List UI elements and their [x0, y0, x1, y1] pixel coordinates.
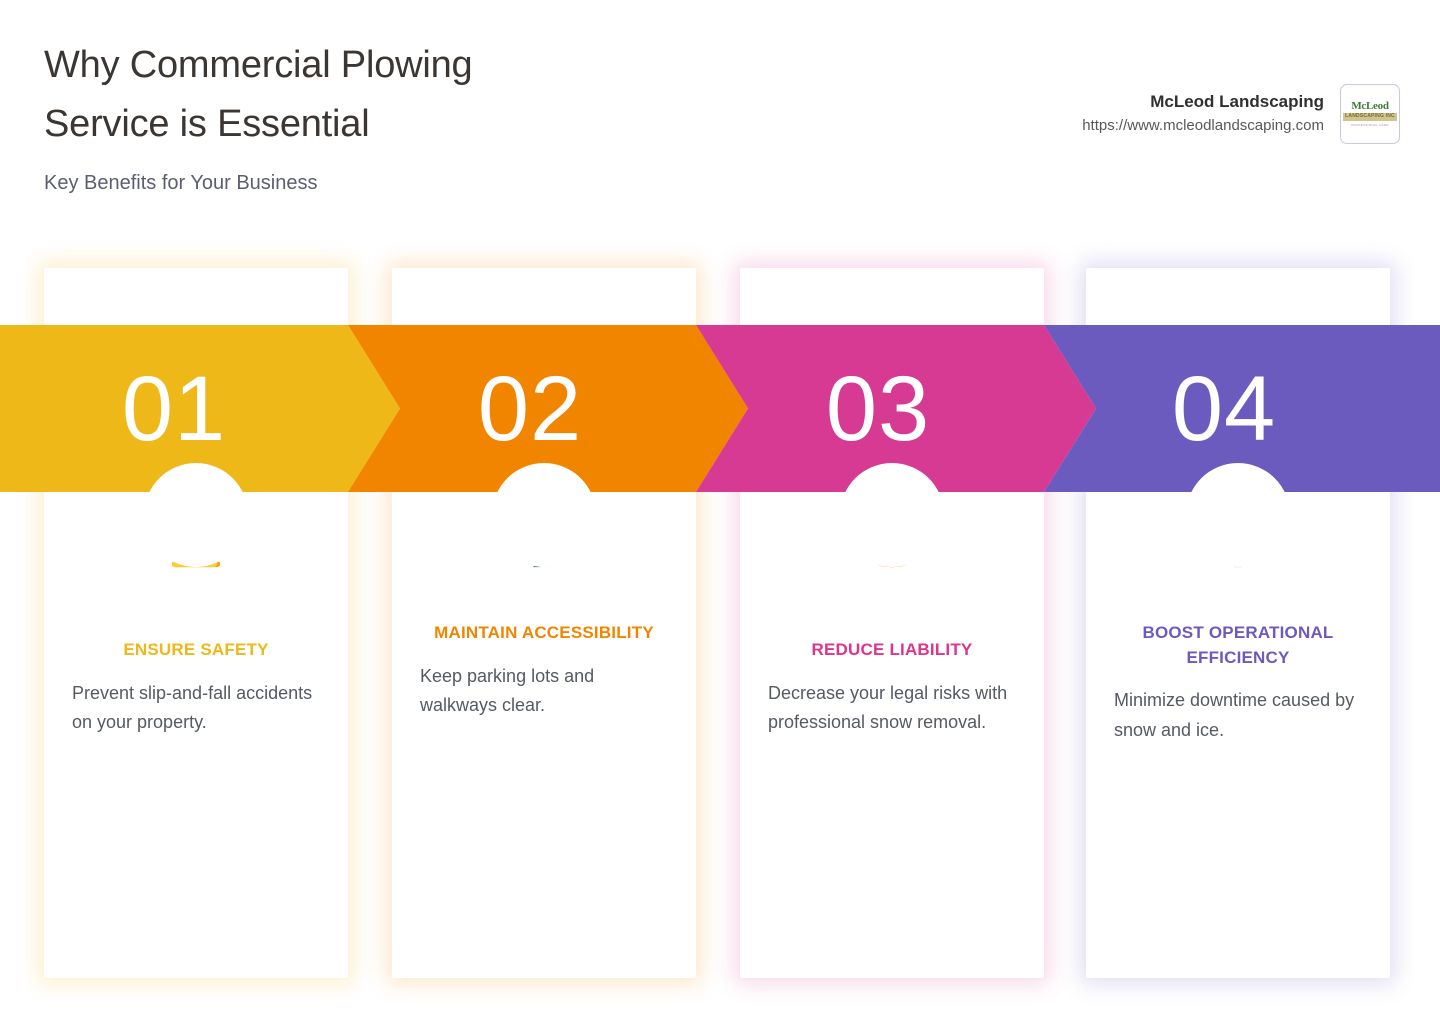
step-number-4: 04	[1044, 363, 1440, 455]
icon-notch-3	[840, 463, 944, 567]
step-card-4-description: Minimize downtime caused by snow and ice…	[1110, 686, 1366, 745]
logo-wordmark: McLeod	[1351, 101, 1388, 112]
step-card-3-title: REDUCE LIABILITY	[764, 638, 1020, 663]
logo-subtitle: LANDSCAPING INC	[1343, 113, 1397, 121]
step-number-2: 02	[348, 363, 748, 455]
brand-block: McLeod Landscaping https://www.mcleodlan…	[1082, 84, 1400, 144]
icon-notch-4	[1186, 463, 1290, 567]
page-title-line-1: Why Commercial Plowing	[44, 36, 804, 95]
title-block: Why Commercial Plowing Service is Essent…	[44, 36, 804, 196]
brand-url[interactable]: https://www.mcleodlandscaping.com	[1082, 115, 1324, 138]
page-title-line-2: Service is Essential	[44, 95, 804, 154]
step-number-1: 01	[0, 363, 400, 455]
icon-notch-2	[492, 463, 596, 567]
brand-name: McLeod Landscaping	[1082, 90, 1324, 115]
infographic-page: Why Commercial Plowing Service is Essent…	[0, 0, 1440, 1024]
logo-tagline: PROFESSIONAL CARE	[1351, 123, 1389, 127]
step-card-3-description: Decrease your legal risks with professio…	[764, 679, 1020, 738]
step-card-2-description: Keep parking lots and walkways clear.	[416, 662, 672, 721]
header: Why Commercial Plowing Service is Essent…	[0, 0, 1440, 250]
step-number-3: 03	[696, 363, 1096, 455]
step-card-1-title: ENSURE SAFETY	[68, 638, 324, 663]
brand-text: McLeod Landscaping https://www.mcleodlan…	[1082, 90, 1324, 137]
brand-logo-icon: McLeod LANDSCAPING INC PROFESSIONAL CARE	[1340, 84, 1400, 144]
page-subtitle: Key Benefits for Your Business	[44, 170, 804, 196]
step-card-2-title: MAINTAIN ACCESSIBILITY	[416, 621, 672, 646]
step-card-1-description: Prevent slip-and-fall accidents on your …	[68, 679, 324, 738]
step-card-4-title: BOOST OPERATIONAL EFFICIENCY	[1110, 621, 1366, 670]
icon-notch-1	[144, 463, 248, 567]
